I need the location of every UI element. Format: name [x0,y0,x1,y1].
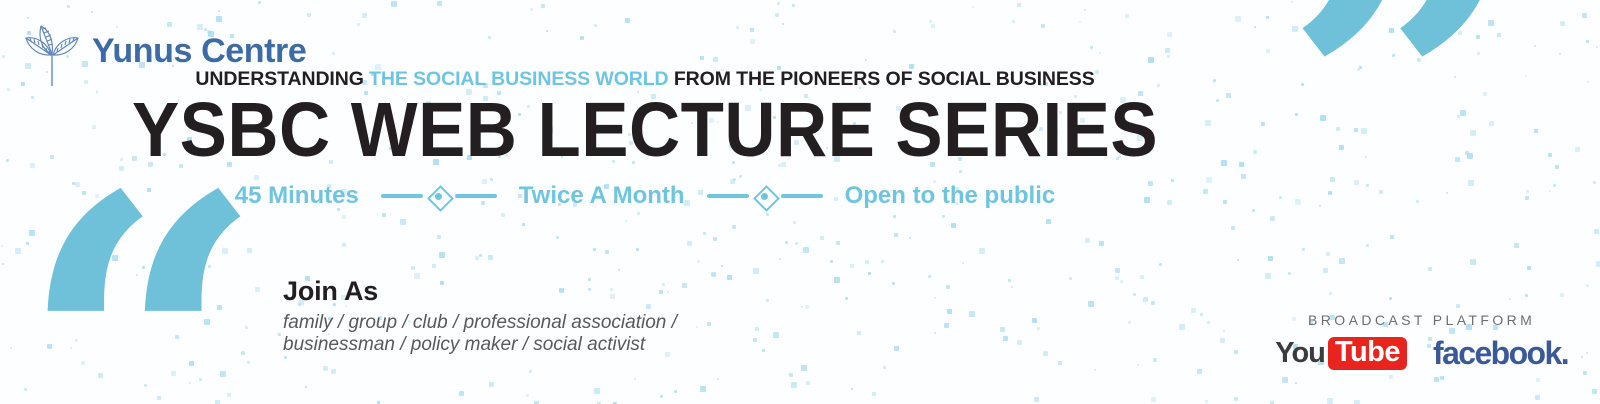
page-title: YSBC WEB LECTURE SERIES [52,93,1239,168]
facebook-logo[interactable]: facebook. [1433,335,1568,372]
headline-group: UNDERSTANDING THE SOCIAL BUSINESS WORLD … [0,68,1290,210]
youtube-tube-badge: Tube [1328,337,1407,370]
broadcast-section: BROADCAST PLATFORM YouTube facebook. [1275,312,1568,372]
diamond-divider-icon [381,185,497,207]
brand-name: Yunus Centre [92,32,306,71]
join-as-line-2: businessman / policy maker / social acti… [283,334,677,356]
join-as-section: Join As family / group / club / professi… [283,276,677,356]
broadcast-label: BROADCAST PLATFORM [1275,312,1568,328]
platform-logos: YouTube facebook. [1275,335,1568,372]
join-as-title: Join As [283,276,677,307]
feature-frequency: Twice A Month [519,182,685,210]
youtube-you-text: You [1275,337,1325,370]
feature-row: 45 Minutes Twice A Month Open to the pub… [0,182,1290,210]
join-as-list: family / group / club / professional ass… [283,312,677,356]
youtube-logo[interactable]: YouTube [1275,337,1407,370]
diamond-divider-icon-2 [707,185,823,207]
feature-duration: 45 Minutes [235,182,359,210]
promo-banner: “ ” Yunus Centre UNDERSTANDING THE SOCIA… [0,0,1600,404]
feature-audience: Open to the public [845,182,1056,210]
closing-quote-decoration: ” [1282,0,1529,312]
join-as-line-1: family / group / club / professional ass… [283,312,677,334]
